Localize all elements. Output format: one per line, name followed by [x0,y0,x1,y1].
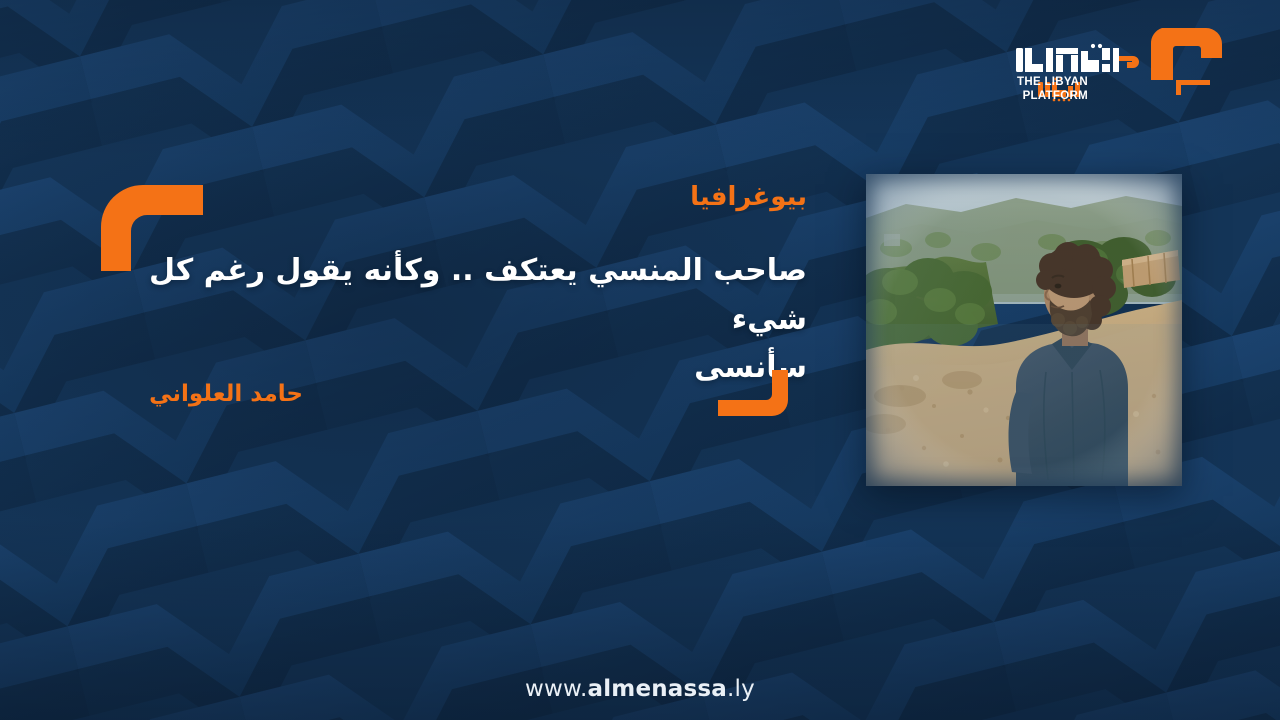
logo-wordmark-ar [1016,44,1119,72]
logo-svg: THE LIBYAN PLATFORM [998,22,1228,104]
logo-en-line2: PLATFORM [1023,90,1088,102]
logo-en-line1: THE LIBYAN [1017,76,1088,88]
headline-line-1: صاحب المنسي يعتكف .. وكأنه يقول رغم كل ش… [138,247,807,344]
page-title: صاحب المنسي يعتكف .. وكأنه يقول رغم كل ش… [138,247,807,393]
category-label: بيوغرافيا [690,182,807,212]
url-prefix: www. [525,676,587,702]
author-name: حامد العلواني [149,381,303,407]
biography-card: THE LIBYAN PLATFORM بيوغرافيا صاحب المنس… [0,0,1280,720]
quote-close-icon [716,370,790,418]
article-photo-svg [866,174,1182,486]
quote-close-svg [716,370,790,418]
logo-mark-icon [1151,28,1222,95]
footer-website-url[interactable]: www.almenassa.ly [0,676,1280,702]
article-photo [866,174,1182,486]
url-main: almenassa [587,676,727,702]
url-suffix: .ly [727,676,755,702]
site-logo[interactable]: THE LIBYAN PLATFORM [998,22,1228,104]
logo-wordmark-accent [1119,56,1139,68]
